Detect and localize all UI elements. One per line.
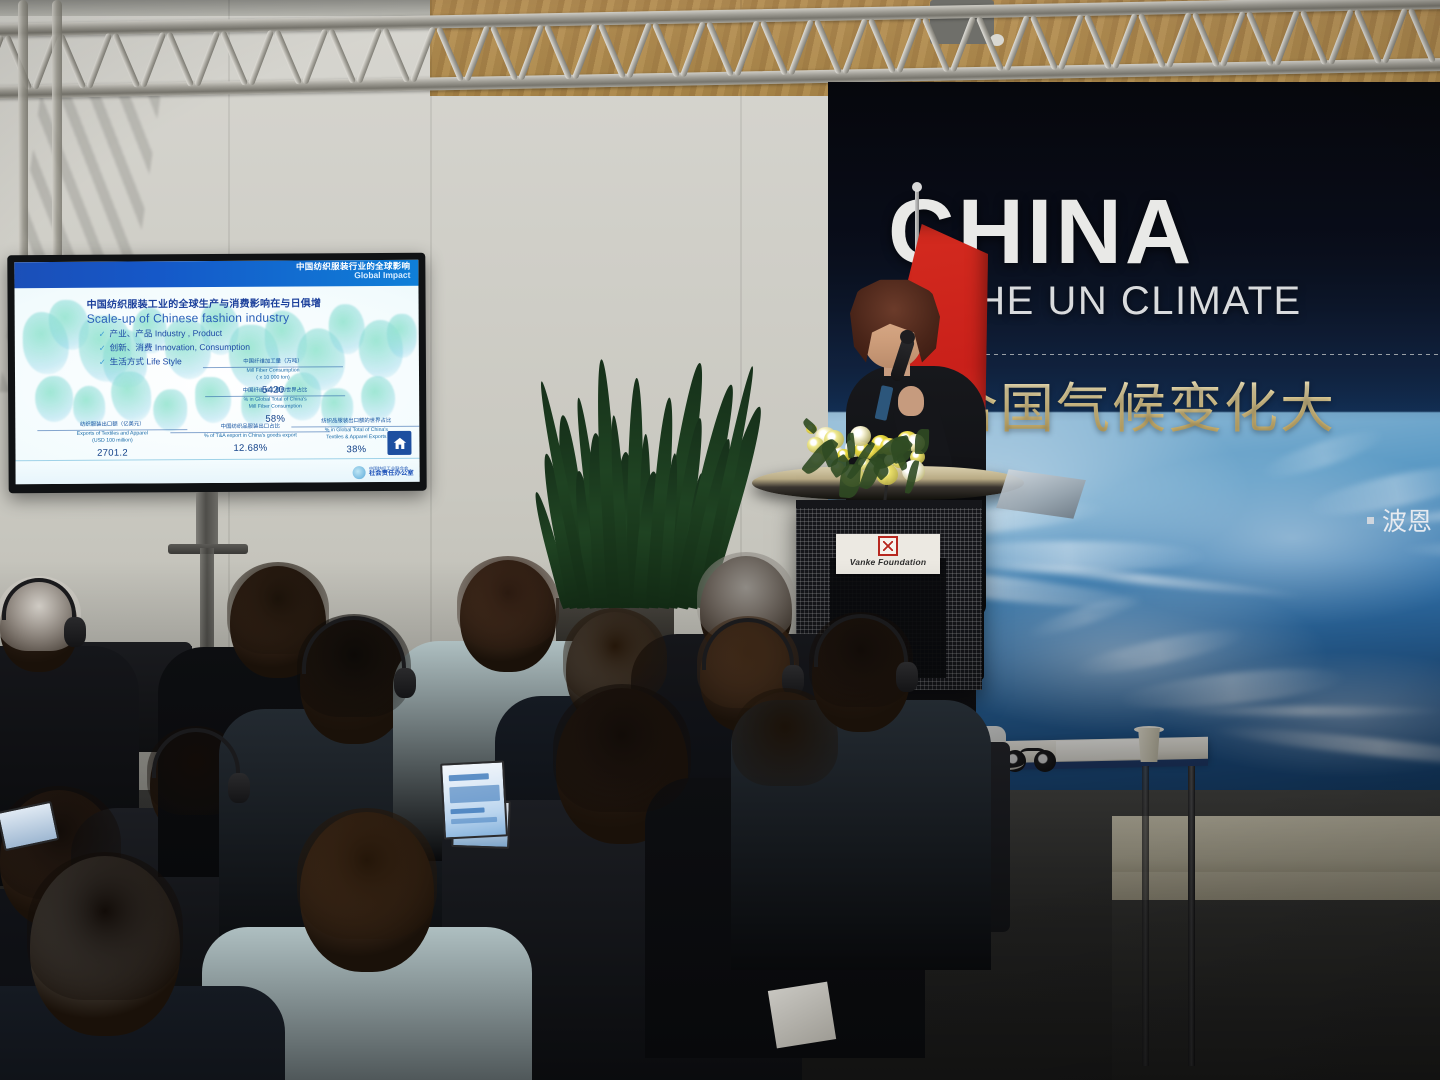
slide-bullet: 产业、产品 Industry , Product <box>99 326 359 340</box>
laptop[interactable] <box>440 760 508 839</box>
vanke-logo-icon <box>878 536 898 556</box>
truss-diagonal <box>706 21 734 77</box>
table-leg <box>1142 766 1149 1066</box>
flower-foliage <box>915 429 929 454</box>
truss-diagonal <box>814 19 842 75</box>
laptop-screen[interactable] <box>440 760 508 839</box>
slide-title: 中国纺织服装工业的全球生产与消费影响在与日俱增 Scale-up of Chin… <box>87 294 387 326</box>
banner-city: 波恩 <box>1367 502 1432 538</box>
floor-right <box>1112 900 1440 1080</box>
truss-diagonal <box>680 21 706 77</box>
stat-label-unit: (USD 100 million) <box>37 437 187 445</box>
slide-header: 中国纺织服装行业的全球影响 Global Impact <box>14 260 418 288</box>
papers-stack <box>1056 739 1146 761</box>
screen-line <box>449 773 489 781</box>
bullet-square-icon <box>1367 517 1374 524</box>
house-logo-icon <box>387 431 411 455</box>
slide-title-en: Scale-up of Chinese fashion industry <box>87 310 387 326</box>
audience-member-hair <box>297 808 437 939</box>
screen-line <box>450 807 484 814</box>
headset-earcup <box>394 668 416 698</box>
podium-sign: Vanke Foundation <box>836 534 940 574</box>
presentation-slide: 中国纺织服装行业的全球影响 Global Impact 中国纺织服装工业的全球生… <box>14 260 419 484</box>
truss-diagonal <box>842 18 868 74</box>
slide-title-zh: 中国纺织服装工业的全球生产与消费影响在与日俱增 <box>87 294 387 311</box>
map-landmass <box>387 314 417 358</box>
screen-line <box>451 817 497 824</box>
map-landmass <box>73 386 105 426</box>
table-leg <box>1188 766 1195 1066</box>
speaker-hand <box>898 386 924 416</box>
slide-stat-exports: 纺织服装出口额（亿美元） Exports of Textiles and App… <box>37 421 187 459</box>
globe-icon <box>353 466 366 479</box>
truss-diagonal <box>760 20 788 76</box>
headset-earcup <box>228 773 250 803</box>
stat-label-unit: ( x 10 000 ton) <box>203 374 343 382</box>
slide-header-en: Global Impact <box>14 271 410 282</box>
footer-logo-line2: 社会责任办公室 <box>369 471 414 478</box>
stage-riser <box>1112 816 1440 880</box>
cloud-streak <box>1164 706 1440 716</box>
audience-member-hair <box>27 852 183 1000</box>
screen-line <box>449 785 500 804</box>
conference-room-photo: 中国纺织服装行业的全球影响 Global Impact 中国纺织服装工业的全球生… <box>0 0 1440 1080</box>
stat-label-unit: Mill Fiber Consumption <box>205 403 345 411</box>
flower-bouquet <box>806 416 928 476</box>
map-landmass <box>361 376 395 420</box>
banner-city-label: 波恩 <box>1382 502 1432 538</box>
printed-handout <box>768 982 836 1049</box>
snake-plant <box>534 346 704 608</box>
podium-sign-label: Vanke Foundation <box>850 557 927 567</box>
truss-diagonal <box>734 20 760 76</box>
stat-value: 2701.2 <box>37 448 187 460</box>
map-landmass <box>35 376 73 422</box>
wall-mounted-display: 中国纺织服装行业的全球影响 Global Impact 中国纺织服装工业的全球生… <box>7 253 426 494</box>
truss-diagonal <box>1408 8 1436 64</box>
audience-member-hair <box>457 556 559 648</box>
map-landmass <box>111 371 151 421</box>
audience-member-hair <box>553 684 691 812</box>
truss-diagonal <box>0 35 4 91</box>
display-stand-neck <box>196 492 218 548</box>
flag-pole-finial <box>912 182 922 192</box>
cnftl-logo: 中国纺织工业联合会 社会责任办公室 <box>353 466 414 479</box>
truss-diagonal <box>788 19 814 75</box>
headset-earcup <box>64 617 86 647</box>
headset-earcup <box>896 662 918 692</box>
slide-bullet: 创新、消费 Innovation, Consumption <box>99 340 359 354</box>
